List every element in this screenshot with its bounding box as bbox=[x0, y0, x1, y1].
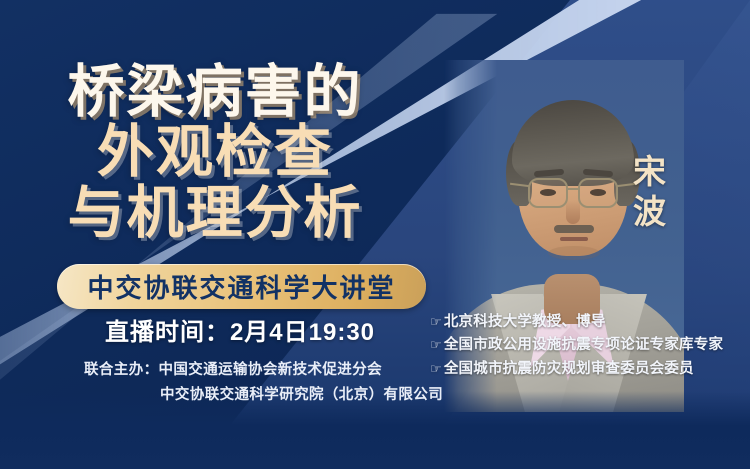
credential-item: ☞ 全国城市抗震防灾规划审查委员会委员 bbox=[430, 358, 748, 381]
speaker-credentials: ☞ 北京科技大学教授、博导 ☞ 全国市政公用设施抗震专项论证专家库专家 ☞ 全国… bbox=[430, 311, 748, 381]
photo-nose bbox=[566, 200, 580, 224]
credential-label: 全国市政公用设施抗震专项论证专家库专家 bbox=[444, 334, 723, 357]
page-title: 桥梁病害的 外观检查 与机理分析 bbox=[0, 62, 430, 243]
pointing-hand-icon: ☞ bbox=[430, 311, 442, 333]
photo-chin-shadow bbox=[548, 246, 600, 260]
title-line-1: 桥梁病害的 bbox=[0, 62, 430, 122]
series-badge: 中交协联交通科学大讲堂 bbox=[57, 264, 426, 309]
pointing-hand-icon: ☞ bbox=[430, 358, 442, 380]
webinar-poster: 宋 波 桥梁病害的 外观检查 与机理分析 中交协联交通科学大讲堂 直播时间：2月… bbox=[0, 0, 750, 469]
photo-mustache bbox=[554, 225, 594, 233]
photo-mouth bbox=[560, 237, 588, 241]
series-badge-label: 中交协联交通科学大讲堂 bbox=[87, 268, 395, 305]
organizer-line-2: 中交协联交通科学研究院（北京）有限公司 bbox=[84, 383, 464, 408]
credential-label: 全国城市抗震防灾规划审查委员会委员 bbox=[444, 358, 694, 381]
credential-label: 北京科技大学教授、博导 bbox=[444, 311, 606, 334]
glasses-bridge-icon bbox=[567, 188, 580, 190]
speaker-name: 宋 波 bbox=[628, 152, 672, 233]
glasses-lens-right-icon bbox=[578, 178, 618, 208]
speaker-name-char-1: 宋 bbox=[628, 152, 672, 192]
glasses-lens-left-icon bbox=[528, 178, 568, 208]
pointing-hand-icon: ☞ bbox=[430, 334, 442, 356]
speaker-name-char-2: 波 bbox=[628, 192, 672, 232]
credential-item: ☞ 全国市政公用设施抗震专项论证专家库专家 bbox=[430, 334, 748, 357]
credential-item: ☞ 北京科技大学教授、博导 bbox=[430, 311, 748, 334]
title-line-2: 外观检查 bbox=[0, 122, 430, 182]
live-time: 直播时间：2月4日19:30 bbox=[0, 312, 480, 347]
title-line-3: 与机理分析 bbox=[0, 183, 430, 243]
organizer-line-1: 联合主办：中国交通运输协会新技术促进分会 bbox=[84, 358, 464, 383]
organizers: 联合主办：中国交通运输协会新技术促进分会 中交协联交通科学研究院（北京）有限公司 bbox=[84, 358, 464, 409]
